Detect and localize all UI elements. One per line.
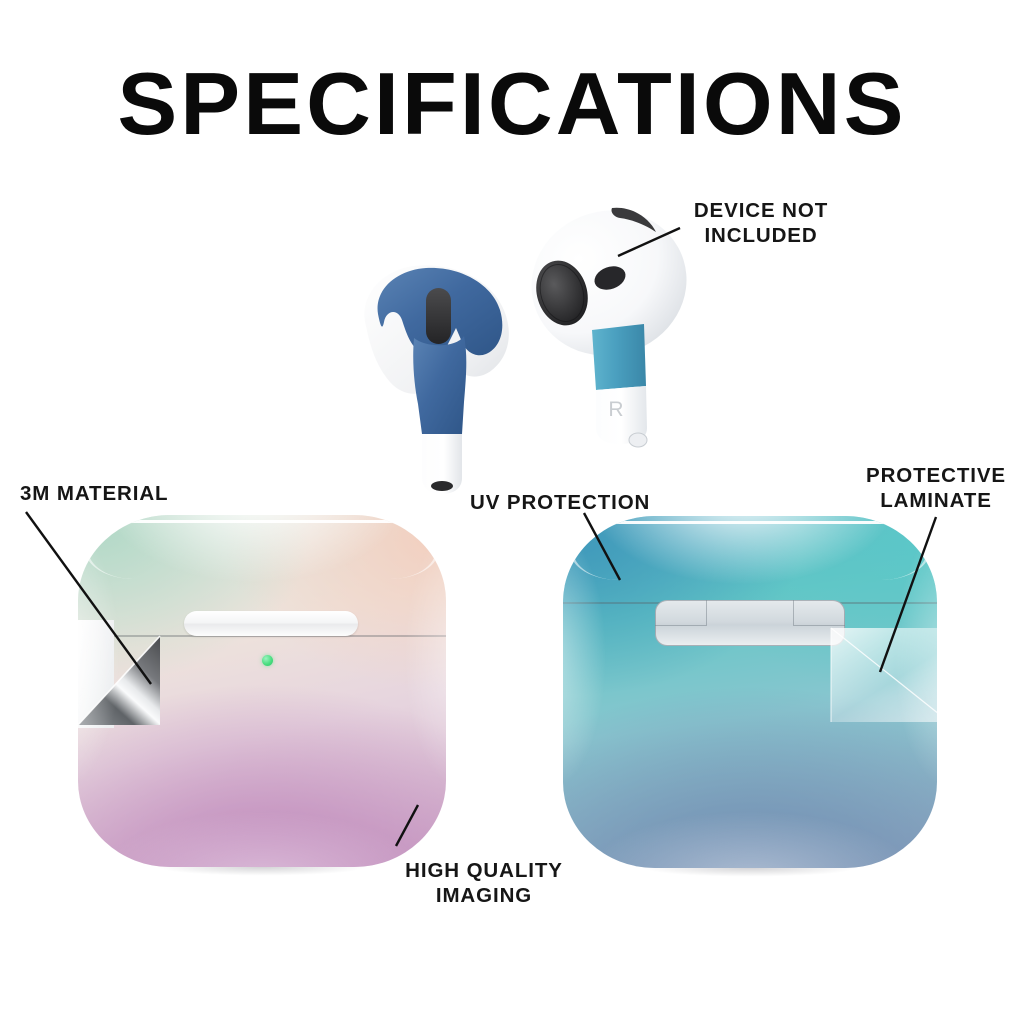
earbud-right-contact (629, 433, 647, 447)
callout-high-quality-imaging: HIGH QUALITY IMAGING (378, 858, 590, 908)
specifications-page: SPECIFICATIONS (0, 0, 1024, 1024)
peel-laminate-sheet (831, 628, 937, 722)
hinge-segment-left (655, 600, 707, 626)
earbud-left-grille-icon (426, 288, 451, 344)
earbud-right-stem-skin (592, 324, 646, 390)
callout-uv-protection: UV PROTECTION (470, 490, 710, 515)
earbud-right-channel-label: R (608, 398, 623, 421)
earbud-left-image (352, 252, 528, 502)
case-left-rim (85, 520, 439, 579)
case-left (78, 515, 446, 867)
case-right-body (563, 516, 937, 868)
page-title: SPECIFICATIONS (0, 56, 1024, 152)
case-left-lid-bar (184, 611, 358, 636)
earbud-left-svg (352, 252, 528, 502)
led-indicator (262, 655, 273, 666)
peel-3m-material (78, 620, 190, 728)
earbud-left-stem-skin (413, 336, 466, 434)
hinge-segment-right (793, 600, 845, 626)
peel-laminate-svg (825, 626, 937, 732)
peel-3m-svg (78, 620, 190, 728)
peel-protective-laminate (825, 626, 937, 732)
callout-device-not-included: DEVICE NOT INCLUDED (686, 198, 836, 248)
earbud-right-svg: R (520, 190, 700, 450)
case-right-rim (570, 521, 930, 580)
earbud-left-contact (431, 481, 453, 491)
earbud-right-image: R (520, 190, 700, 450)
callout-protective-laminate: PROTECTIVE LAMINATE (848, 463, 1024, 513)
case-right (563, 516, 937, 868)
case-right-hinge-bar (655, 600, 845, 646)
case-left-body (78, 515, 446, 867)
callout-3m-material: 3M MATERIAL (20, 481, 240, 506)
